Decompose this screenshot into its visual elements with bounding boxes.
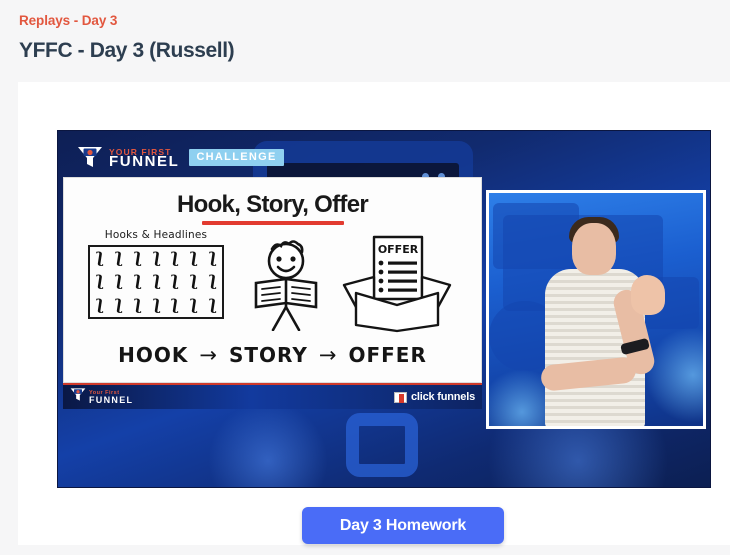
background-square-graphic bbox=[346, 413, 418, 477]
flow-arrow-icon: → bbox=[199, 343, 218, 367]
flow-step-offer: OFFER bbox=[348, 343, 426, 367]
page-header: Replays - Day 3 YFFC - Day 3 (Russell) bbox=[0, 0, 730, 82]
breadcrumb-eyebrow: Replays - Day 3 bbox=[19, 13, 730, 29]
clickfunnels-mark-icon bbox=[394, 392, 407, 403]
clickfunnels-label: click funnels bbox=[411, 391, 475, 403]
stage-glow bbox=[645, 327, 706, 423]
video-player[interactable]: YOUR FIRST FUNNEL CHALLENGE Hook, Story,… bbox=[57, 130, 711, 488]
hook-glyph-icon: ʃ bbox=[116, 251, 121, 266]
hook-glyph-icon: ʃ bbox=[135, 298, 140, 313]
yff-line2: FUNNEL bbox=[109, 157, 179, 167]
slide-title-underline bbox=[202, 221, 344, 225]
hook-glyph-icon: ʃ bbox=[191, 298, 196, 313]
offer-box-icon: OFFER bbox=[336, 233, 458, 338]
hook-glyph-icon: ʃ bbox=[116, 274, 121, 289]
challenge-badge: CHALLENGE bbox=[189, 149, 283, 166]
page-title: YFFC - Day 3 (Russell) bbox=[19, 38, 730, 64]
yff-footer-bottom: FUNNEL bbox=[89, 397, 133, 404]
speaker-video-panel bbox=[486, 190, 706, 429]
funnel-icon bbox=[77, 145, 103, 169]
slide-graphics: Hooks & Headlines ʃʃʃʃʃʃʃʃʃʃʃʃʃʃʃʃʃʃʃʃʃ bbox=[64, 231, 481, 335]
hooks-headlines-label: Hooks & Headlines bbox=[84, 229, 228, 241]
content-card: YOUR FIRST FUNNEL CHALLENGE Hook, Story,… bbox=[18, 82, 730, 545]
flow-step-hook: HOOK bbox=[118, 343, 188, 367]
flow-arrow-icon: → bbox=[319, 343, 338, 367]
hooks-grid: ʃʃʃʃʃʃʃʃʃʃʃʃʃʃʃʃʃʃʃʃʃ bbox=[88, 245, 224, 319]
background-glow bbox=[208, 401, 328, 488]
funnel-icon bbox=[70, 387, 86, 407]
day-homework-button[interactable]: Day 3 Homework bbox=[302, 507, 504, 544]
yff-brand-logo: YOUR FIRST FUNNEL CHALLENGE bbox=[77, 145, 284, 169]
hook-glyph-icon: ʃ bbox=[154, 251, 159, 266]
yff-footer-logo: Your First FUNNEL bbox=[70, 387, 133, 407]
hook-glyph-icon: ʃ bbox=[191, 251, 196, 266]
slide-title: Hook, Story, Offer bbox=[64, 191, 481, 219]
yff-footer-wordmark: Your First FUNNEL bbox=[89, 390, 133, 404]
hook-glyph-icon: ʃ bbox=[135, 274, 140, 289]
hook-glyph-icon: ʃ bbox=[116, 298, 121, 313]
hook-glyph-icon: ʃ bbox=[172, 298, 177, 313]
hook-glyph-icon: ʃ bbox=[154, 274, 159, 289]
slide-footer-bar: Your First FUNNEL click funnels bbox=[63, 383, 482, 409]
hook-glyph-icon: ʃ bbox=[210, 274, 215, 289]
hook-glyph-icon: ʃ bbox=[97, 251, 102, 266]
clickfunnels-logo: click funnels bbox=[394, 391, 475, 403]
yff-wordmark: YOUR FIRST FUNNEL bbox=[109, 147, 179, 167]
hook-glyph-icon: ʃ bbox=[97, 298, 102, 313]
hook-glyph-icon: ʃ bbox=[172, 274, 177, 289]
flow-step-story: STORY bbox=[229, 343, 308, 367]
hook-glyph-icon: ʃ bbox=[97, 274, 102, 289]
presentation-slide: Hook, Story, Offer Hooks & Headlines ʃʃʃ… bbox=[63, 177, 482, 383]
hook-glyph-icon: ʃ bbox=[191, 274, 196, 289]
hook-glyph-icon: ʃ bbox=[172, 251, 177, 266]
hook-glyph-icon: ʃ bbox=[210, 251, 215, 266]
stick-figure-reading-icon bbox=[242, 235, 334, 336]
speaker-hand bbox=[631, 275, 665, 315]
hook-glyph-icon: ʃ bbox=[210, 298, 215, 313]
hook-glyph-icon: ʃ bbox=[154, 298, 159, 313]
speaker-head bbox=[572, 223, 616, 275]
hook-glyph-icon: ʃ bbox=[135, 251, 140, 266]
svg-text:OFFER: OFFER bbox=[378, 243, 419, 256]
hook-story-offer-flow: HOOK → STORY → OFFER bbox=[64, 343, 481, 367]
